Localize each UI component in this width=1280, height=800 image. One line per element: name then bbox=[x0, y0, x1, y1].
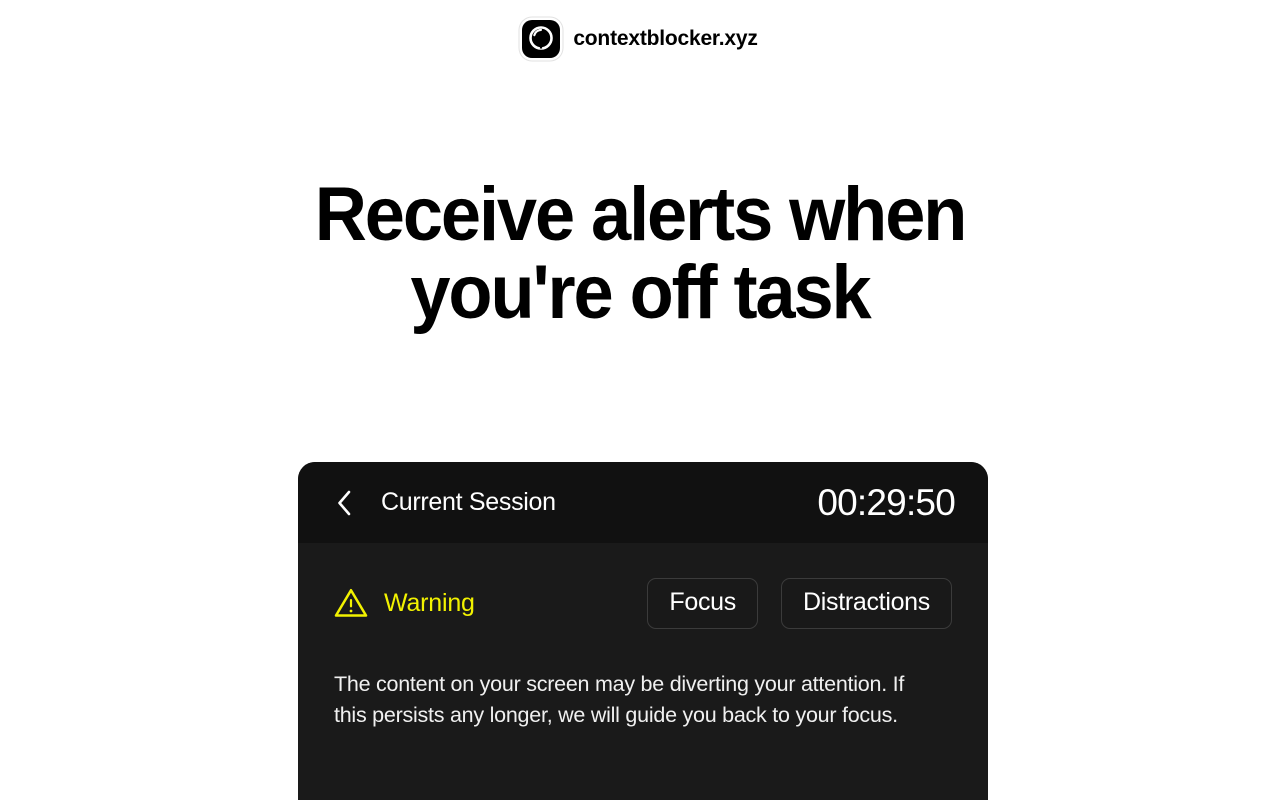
session-timer: 00:29:50 bbox=[817, 482, 955, 524]
warning-row: Warning Focus Distractions bbox=[334, 543, 952, 663]
headline-line-1: Receive alerts when bbox=[32, 176, 1248, 254]
warning-label: Warning bbox=[384, 589, 475, 618]
warning-message: The content on your screen may be divert… bbox=[334, 669, 942, 731]
warning-status: Warning bbox=[334, 586, 475, 620]
contextblocker-balloon-icon bbox=[522, 20, 560, 58]
brand-header: contextblocker.xyz bbox=[0, 20, 1280, 58]
warning-triangle-icon bbox=[334, 586, 368, 620]
headline-line-2: you're off task bbox=[32, 254, 1248, 332]
session-card-body: Warning Focus Distractions The content o… bbox=[298, 543, 988, 731]
session-card-header: Current Session 00:29:50 bbox=[298, 462, 988, 543]
page-title: Receive alerts when you're off task bbox=[32, 176, 1248, 332]
chevron-left-icon[interactable] bbox=[334, 488, 354, 518]
warning-actions: Focus Distractions bbox=[647, 578, 952, 629]
brand-name: contextblocker.xyz bbox=[573, 27, 757, 51]
focus-button[interactable]: Focus bbox=[647, 578, 758, 629]
session-title: Current Session bbox=[381, 488, 556, 517]
distractions-button[interactable]: Distractions bbox=[781, 578, 952, 629]
current-session-card: Current Session 00:29:50 Warning Focus D… bbox=[298, 462, 988, 800]
